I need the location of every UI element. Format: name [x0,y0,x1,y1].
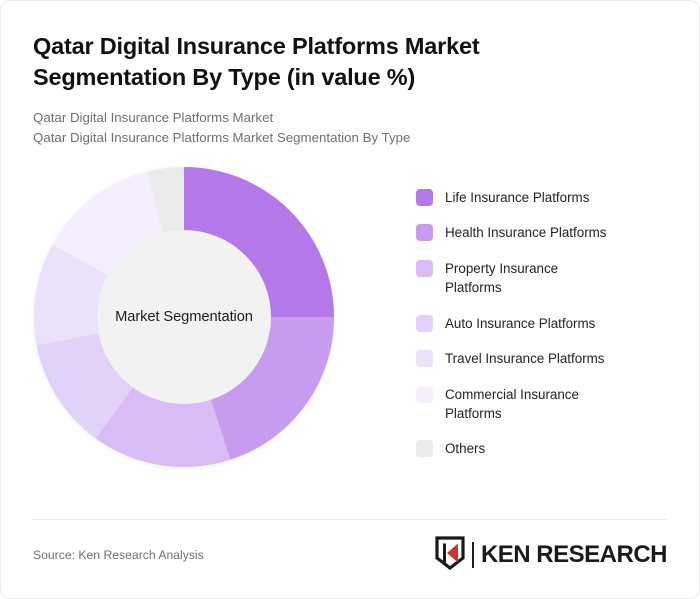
chart-body: Market Segmentation Life Insurance Platf… [1,166,699,491]
legend-item-label: Life Insurance Platforms [445,188,589,207]
chart-legend: Life Insurance PlatformsHealth Insurance… [335,166,667,475]
subtitle-group: Qatar Digital Insurance Platforms Market… [33,108,667,148]
legend-item-label: Others [445,439,485,458]
legend-item[interactable]: Others [416,439,667,458]
legend-swatch-icon [416,224,433,241]
donut-hole [97,230,271,404]
chart-header: Qatar Digital Insurance Platforms Market… [1,1,699,148]
legend-item-label: Travel Insurance Platforms [445,349,605,368]
chart-footer: Source: Ken Research Analysis KEN RESEAR… [33,531,667,579]
legend-swatch-icon [416,386,433,403]
legend-swatch-icon [416,189,433,206]
legend-swatch-icon [416,260,433,277]
subtitle-segmentation: Qatar Digital Insurance Platforms Market… [33,128,667,148]
legend-item-label: Property Insurance Platforms [445,259,617,297]
legend-swatch-icon [416,315,433,332]
legend-item-label: Auto Insurance Platforms [445,314,595,333]
legend-item[interactable]: Commercial Insurance Platforms [416,385,667,423]
legend-item-label: Health Insurance Platforms [445,223,607,242]
legend-item[interactable]: Auto Insurance Platforms [416,314,667,333]
footer-divider [33,519,667,520]
ken-research-k-logo-svg [435,536,465,570]
legend-item[interactable]: Life Insurance Platforms [416,188,667,207]
source-note: Source: Ken Research Analysis [33,548,204,562]
donut-chart-svg [33,166,335,468]
legend-item[interactable]: Travel Insurance Platforms [416,349,667,368]
legend-swatch-icon [416,350,433,367]
legend-item-label: Commercial Insurance Platforms [445,385,617,423]
subtitle-market: Qatar Digital Insurance Platforms Market [33,108,667,128]
legend-item[interactable]: Health Insurance Platforms [416,223,667,242]
chart-card: Qatar Digital Insurance Platforms Market… [0,0,700,599]
brand-divider [472,542,474,568]
donut-chart: Market Segmentation [33,166,335,468]
ken-research-k-logo-icon [435,536,465,575]
brand-wordmark: KEN RESEARCH [481,541,667,569]
page-title: Qatar Digital Insurance Platforms Market… [33,31,563,94]
legend-item[interactable]: Property Insurance Platforms [416,259,667,297]
legend-swatch-icon [416,440,433,457]
brand-logo: KEN RESEARCH [435,536,667,575]
